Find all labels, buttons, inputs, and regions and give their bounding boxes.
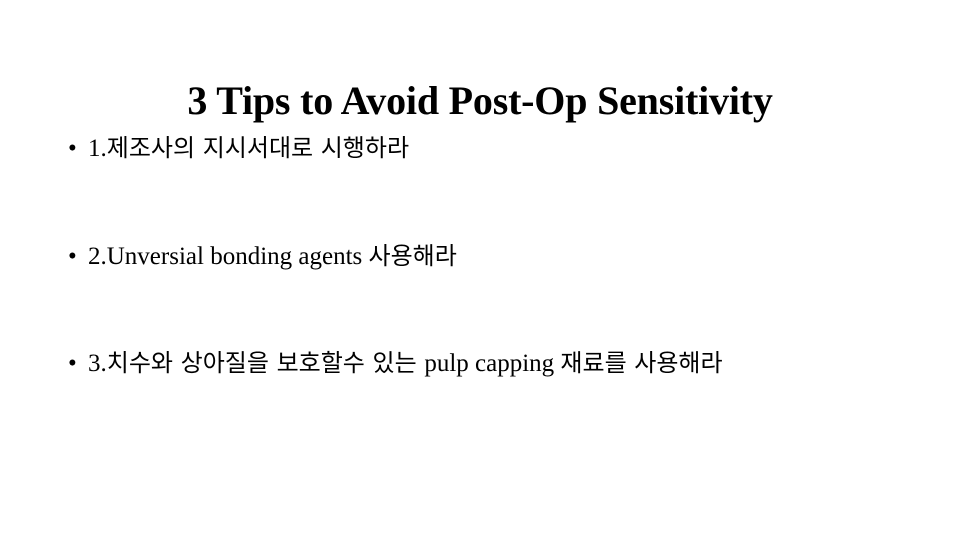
bullet-item-1: • 1.제조사의 지시서대로 시행하라 <box>62 133 920 166</box>
bullet-item-3: • 3.치수와 상아질을 보호할수 있는 pulp capping 재료를 사용… <box>62 348 920 381</box>
bullet-text-2: 2.Unversial bonding agents 사용해라 <box>88 243 457 270</box>
bullet-text-1: 1.제조사의 지시서대로 시행하라 <box>88 135 409 162</box>
bullet-3-segment-1: 치수와 상아질을 보호할수 있는 <box>107 349 425 377</box>
bullet-marker-icon: • <box>68 348 77 381</box>
bullet-1-segment-0: 1. <box>88 135 107 162</box>
bullet-marker-icon: • <box>68 133 77 166</box>
bullet-2-segment-1: 사용해라 <box>369 242 457 270</box>
bullet-3-segment-0: 3. <box>88 350 107 377</box>
bullet-3-segment-2: pulp capping <box>424 350 560 377</box>
bullet-2-segment-0: 2.Unversial bonding agents <box>88 243 369 270</box>
presentation-slide: 3 Tips to Avoid Post-Op Sensitivity • 1.… <box>0 0 960 540</box>
slide-title: 3 Tips to Avoid Post-Op Sensitivity <box>0 79 960 124</box>
bullet-item-2: • 2.Unversial bonding agents 사용해라 <box>62 241 920 274</box>
bullet-3-segment-3: 재료를 사용해라 <box>560 349 722 377</box>
bullet-list: • 1.제조사의 지시서대로 시행하라 • 2.Unversial bondin… <box>62 133 920 381</box>
bullet-text-3: 3.치수와 상아질을 보호할수 있는 pulp capping 재료를 사용해라 <box>88 350 723 377</box>
bullet-marker-icon: • <box>68 241 77 274</box>
bullet-1-segment-1: 제조사의 지시서대로 시행하라 <box>107 134 409 162</box>
